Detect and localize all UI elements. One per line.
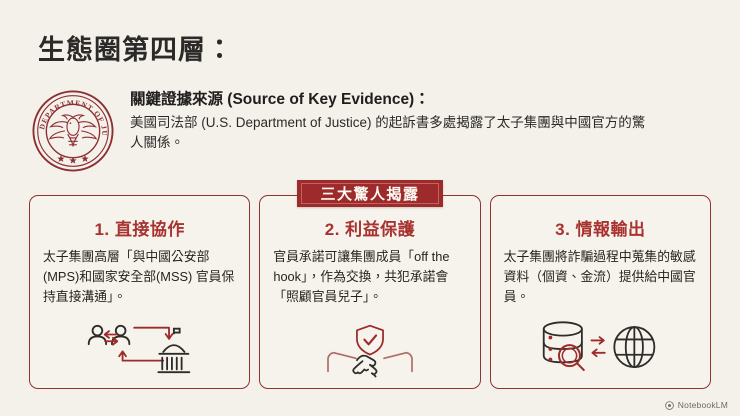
card-interest-protection: 2. 利益保護 官員承諾可讓集團成員「off the hook」，作為交換，共犯… [259,195,480,389]
section-banner-label: 三大驚人揭露 [320,183,419,204]
database-search-globe-icon [538,318,662,380]
footer-label: NotebookLM [678,400,728,410]
evidence-body: 美國司法部 (U.S. Department of Justice) 的起訴書多… [130,113,650,154]
card-title: 3. 情報輸出 [555,215,645,240]
card-title: 1. 直接協作 [94,215,184,240]
evidence-heading: 關鍵證據來源 (Source of Key Evidence)： [130,90,650,111]
card-direct-collaboration: 1. 直接協作 太子集團高層「與中國公安部(MPS)和國家安全部(MSS) 官員… [29,195,250,389]
section-banner: 三大驚人揭露 [297,180,443,207]
card-body: 太子集團高層「與中國公安部(MPS)和國家安全部(MSS) 官員保持直接溝通」。 [43,247,236,308]
svg-text:DEPARTMENT OF JUSTICE: DEPARTMENT OF JUSTICE [30,88,109,137]
card-title: 2. 利益保護 [325,215,415,240]
card-intelligence-export: 3. 情報輸出 太子集團將詐騙過程中蒐集的敏感資料（個資、金流）提供給中國官員。 [490,195,711,389]
card-body: 官員承諾可讓集團成員「off the hook」，作為交換，共犯承諾會「照顧官員… [273,247,466,308]
slide-root: 生態圈第四層： DEPARTMENT OF JUSTICE [0,0,740,416]
people-exchange-government-icon [81,318,199,380]
cards-row: 1. 直接協作 太子集團高層「與中國公安部(MPS)和國家安全部(MSS) 官員… [29,195,711,389]
evidence-text: 關鍵證據來源 (Source of Key Evidence)： 美國司法部 (… [130,86,650,174]
notebooklm-logo-icon [665,401,674,410]
doj-seal-icon: DEPARTMENT OF JUSTICE [30,88,116,174]
evidence-block: DEPARTMENT OF JUSTICE [30,86,710,174]
page-title: 生態圈第四層： [38,28,234,67]
card-body: 太子集團將詐騙過程中蒐集的敏感資料（個資、金流）提供給中國官員。 [504,247,697,308]
handshake-shield-check-icon [314,318,426,380]
footer-watermark: NotebookLM [665,400,728,410]
